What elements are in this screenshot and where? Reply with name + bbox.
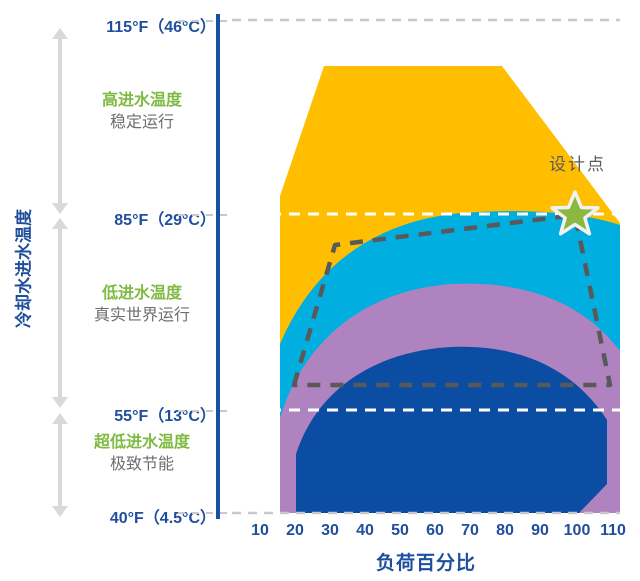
y-tick-label-55f: 55°F（13°C）: [114, 402, 216, 426]
x-tick-label-20: 20: [286, 522, 304, 540]
x-tick-label-100: 100: [564, 522, 591, 540]
x-tick-label-90: 90: [531, 522, 549, 540]
x-axis-title: 负荷百分比: [232, 548, 620, 575]
gridline-stub-85f: [178, 214, 216, 216]
band-title-high: 高进水温度: [72, 90, 212, 112]
band-title-ultra-low: 超低进水温度: [72, 432, 212, 454]
gridline-stub-115f-inner: [220, 20, 232, 22]
x-tick-label-80: 80: [496, 522, 514, 540]
y-tick-label-115f: 115°F（46°C）: [106, 13, 216, 37]
range-stem: [58, 227, 62, 399]
chart-svg: [232, 14, 620, 519]
range-indicator-high: [52, 28, 68, 214]
x-tick-label-30: 30: [321, 522, 339, 540]
y-tick-label-85f: 85°F（29°C）: [114, 206, 216, 230]
x-tick-label-50: 50: [391, 522, 409, 540]
range-stem: [58, 37, 62, 205]
gridline-stub-40f: [178, 512, 216, 514]
band-subtitle-ultra-low: 极致节能: [72, 454, 212, 476]
y-axis-title: 冷却水进水温度: [10, 159, 35, 379]
gridline-stub-55f: [178, 410, 216, 412]
design-point-label: 设计点: [549, 150, 606, 175]
arrow-down-icon: [52, 506, 68, 517]
band-annotation-ultra-low: 超低进水温度 极致节能: [72, 432, 212, 476]
band-subtitle-high: 稳定运行: [72, 112, 212, 134]
range-stem: [58, 422, 62, 508]
arrow-down-icon: [52, 203, 68, 214]
gridline-stub-115f: [178, 20, 216, 22]
plot-area: [232, 14, 620, 514]
gridline-stub-85f-inner: [220, 214, 232, 216]
y-tick-label-40f: 40°F（4.5°C）: [110, 504, 216, 528]
x-tick-label-40: 40: [356, 522, 374, 540]
range-indicator-ultra-low: [52, 413, 68, 517]
band-title-low: 低进水温度: [72, 283, 212, 305]
band-annotation-low: 低进水温度 真实世界运行: [72, 283, 212, 327]
band-annotation-high: 高进水温度 稳定运行: [72, 90, 212, 134]
gridline-stub-55f-inner: [220, 410, 232, 412]
x-axis-ticks: 10 20 30 40 50 60 70 80 90 100 110: [232, 522, 620, 544]
x-tick-label-60: 60: [426, 522, 444, 540]
arrow-down-icon: [52, 397, 68, 408]
x-tick-label-10: 10: [251, 522, 269, 540]
band-subtitle-low: 真实世界运行: [72, 305, 212, 327]
range-indicator-low: [52, 218, 68, 408]
chart-root: 冷却水进水温度 115°F（46°C） 85°F（29°C） 55°F（13°C…: [0, 0, 640, 581]
x-tick-label-70: 70: [461, 522, 479, 540]
y-axis-line: [216, 14, 220, 519]
gridline-stub-40f-inner: [220, 512, 232, 514]
x-tick-label-110: 110: [600, 522, 626, 540]
